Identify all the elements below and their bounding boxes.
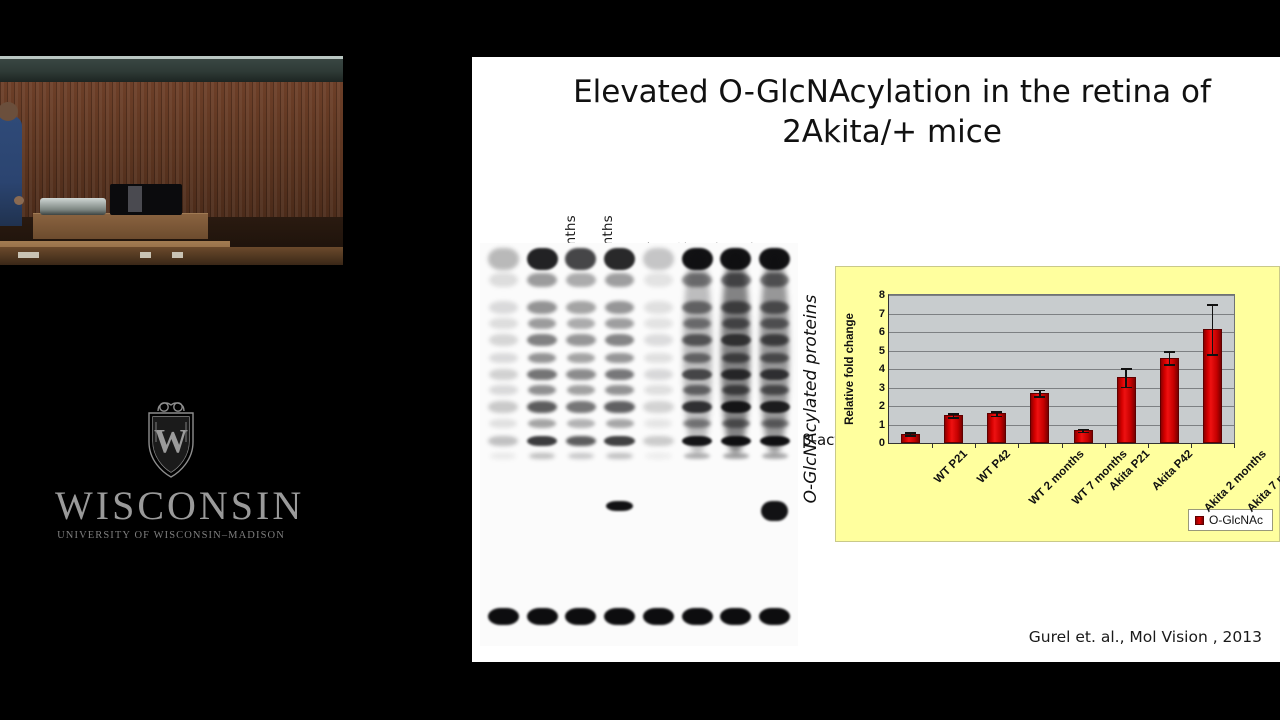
speaker-hand bbox=[14, 196, 24, 205]
blot-y-caption: O-GlcNAcylated proteins bbox=[798, 269, 824, 529]
chart-gridline bbox=[889, 314, 1234, 315]
chart-y-tick-label: 4 bbox=[879, 363, 885, 375]
speaker-person bbox=[0, 116, 22, 226]
chart-error-cap bbox=[1078, 429, 1089, 431]
chart-gridline bbox=[889, 351, 1234, 352]
blot-band bbox=[605, 334, 634, 346]
blot-band bbox=[605, 318, 634, 329]
chart-y-tick-label: 2 bbox=[879, 400, 885, 412]
chart-error-cap bbox=[1034, 390, 1045, 392]
blot-smear bbox=[760, 251, 789, 453]
blot-band bbox=[606, 501, 633, 511]
chart-gridline bbox=[889, 406, 1234, 407]
blot-band bbox=[489, 273, 518, 287]
chart-y-tick-label: 1 bbox=[879, 419, 885, 431]
blot-band bbox=[644, 273, 673, 287]
blot-band bbox=[566, 436, 596, 446]
chart-y-axis-title-text: Relative fold change bbox=[844, 313, 856, 425]
chart-y-tick-label: 5 bbox=[879, 345, 885, 357]
blot-smear bbox=[683, 251, 712, 453]
chart-error-cap bbox=[1121, 387, 1132, 389]
blot-band bbox=[489, 353, 518, 363]
blot-band bbox=[644, 301, 673, 313]
blot-lane bbox=[527, 243, 558, 646]
chart-bar[interactable] bbox=[987, 413, 1006, 443]
blot-band bbox=[567, 419, 595, 428]
blot-lane bbox=[643, 243, 674, 646]
beta-actin-band bbox=[759, 608, 790, 625]
chart-x-tick bbox=[1191, 443, 1192, 448]
chart-gridline bbox=[889, 425, 1234, 426]
blot-lane bbox=[682, 243, 713, 646]
blot-band bbox=[723, 453, 749, 459]
chart-bar[interactable] bbox=[944, 415, 963, 443]
chart-error-cap bbox=[905, 435, 916, 437]
blot-band bbox=[605, 301, 634, 313]
blot-band bbox=[568, 453, 594, 459]
chart-bar[interactable] bbox=[1030, 393, 1049, 443]
blot-band bbox=[606, 419, 634, 428]
blot-band bbox=[490, 453, 516, 459]
blot-band bbox=[643, 248, 674, 270]
blot-band bbox=[762, 453, 788, 459]
beta-actin-band bbox=[488, 608, 519, 625]
blot-band bbox=[567, 353, 596, 363]
blot-band bbox=[489, 419, 517, 428]
western-blot-image bbox=[480, 243, 798, 646]
blot-band bbox=[684, 453, 710, 459]
chart-error-cap bbox=[1078, 432, 1089, 434]
blot-band bbox=[605, 369, 634, 380]
chart-y-tick-label: 8 bbox=[879, 289, 885, 301]
chart-bar[interactable] bbox=[1160, 358, 1179, 443]
blot-band bbox=[528, 318, 557, 329]
blot-band bbox=[488, 248, 519, 270]
blot-band bbox=[528, 419, 556, 428]
chart-error-cap bbox=[1164, 364, 1175, 366]
projector-device bbox=[40, 198, 106, 215]
podium-desk bbox=[33, 213, 208, 239]
blot-band bbox=[644, 353, 673, 363]
blot-band bbox=[644, 318, 673, 329]
blot-band bbox=[528, 385, 557, 395]
blot-band bbox=[489, 301, 518, 313]
relative-fold-change-chart: Relative fold change 012345678 O-GlcNAc … bbox=[835, 266, 1280, 542]
blot-band bbox=[567, 318, 596, 329]
blot-lane bbox=[604, 243, 635, 646]
chart-legend[interactable]: O-GlcNAc bbox=[1188, 509, 1273, 531]
slide-title-line1: Elevated O-GlcNAcylation in the retina o… bbox=[573, 74, 1211, 110]
beta-actin-band bbox=[643, 608, 674, 625]
blot-band bbox=[527, 273, 556, 287]
blot-band bbox=[528, 353, 557, 363]
blot-band bbox=[566, 273, 595, 287]
chart-error-cap bbox=[991, 411, 1002, 413]
beta-actin-band bbox=[604, 608, 635, 625]
blot-band bbox=[488, 436, 518, 446]
blot-band bbox=[527, 401, 557, 413]
blot-band bbox=[566, 401, 596, 413]
chart-error-bar bbox=[1212, 304, 1214, 354]
blot-band bbox=[604, 401, 634, 413]
blot-band bbox=[527, 369, 556, 380]
blot-lane bbox=[488, 243, 519, 646]
chart-x-tick bbox=[1234, 443, 1235, 448]
chart-error-cap bbox=[1207, 354, 1218, 356]
legend-swatch-icon bbox=[1195, 516, 1204, 525]
audience-bench-row bbox=[0, 247, 343, 265]
bench-fitting bbox=[172, 252, 183, 258]
chart-error-cap bbox=[1207, 304, 1218, 306]
blot-band bbox=[644, 419, 672, 428]
chart-gridline bbox=[889, 388, 1234, 389]
chart-error-cap bbox=[1121, 368, 1132, 370]
monitor-stand bbox=[128, 186, 142, 212]
blot-band bbox=[644, 334, 673, 346]
beta-actin-band bbox=[527, 608, 558, 625]
beta-actin-band bbox=[682, 608, 713, 625]
blot-band bbox=[604, 436, 634, 446]
chart-x-tick-label: Akita P42 bbox=[1150, 448, 1195, 493]
chart-x-tick bbox=[1105, 443, 1106, 448]
chart-x-tick bbox=[1062, 443, 1063, 448]
uw-subtitle: UNIVERSITY OF WISCONSIN–MADISON bbox=[55, 530, 287, 541]
chart-error-cap bbox=[948, 417, 959, 419]
blot-y-caption-text: O-GlcNAcylated proteins bbox=[801, 295, 821, 504]
blot-band bbox=[566, 334, 595, 346]
blot-band bbox=[644, 369, 673, 380]
monitor-device bbox=[110, 184, 182, 215]
blot-lane bbox=[759, 243, 790, 646]
blot-band bbox=[761, 501, 788, 521]
chart-error-cap bbox=[1034, 396, 1045, 398]
blot-band bbox=[489, 334, 518, 346]
speaker-video-feed[interactable] bbox=[0, 56, 343, 265]
chart-x-tick bbox=[975, 443, 976, 448]
blot-band bbox=[645, 453, 671, 459]
blot-band bbox=[605, 353, 634, 363]
chart-gridline bbox=[889, 295, 1234, 296]
blot-band bbox=[604, 248, 635, 270]
slide-citation: Gurel et. al., Mol Vision , 2013 bbox=[1029, 628, 1262, 646]
chart-error-cap bbox=[1164, 351, 1175, 353]
blot-band bbox=[489, 369, 518, 380]
blot-band bbox=[489, 385, 518, 395]
chart-gridline bbox=[889, 332, 1234, 333]
chart-y-tick-label: 6 bbox=[879, 326, 885, 338]
beta-actin-band bbox=[565, 608, 596, 625]
bench-fitting bbox=[140, 252, 151, 258]
chart-gridline bbox=[889, 369, 1234, 370]
chart-x-tick bbox=[932, 443, 933, 448]
chart-y-tick-label: 0 bbox=[879, 437, 885, 449]
chart-y-tick-label: 3 bbox=[879, 382, 885, 394]
blot-band bbox=[529, 453, 555, 459]
chart-error-cap bbox=[905, 432, 916, 434]
blot-band bbox=[605, 273, 634, 287]
blot-band bbox=[527, 248, 558, 270]
chart-plot-area: 012345678 bbox=[888, 294, 1235, 444]
blot-band bbox=[565, 248, 596, 270]
chart-x-tick-label: WT P42 bbox=[975, 448, 1013, 486]
blot-band bbox=[566, 369, 595, 380]
bench-fitting bbox=[28, 252, 39, 258]
chart-x-tick bbox=[1148, 443, 1149, 448]
chart-x-tick bbox=[1018, 443, 1019, 448]
screen-root: W WISCONSIN UNIVERSITY OF WISCONSIN–MADI… bbox=[0, 0, 1280, 720]
blot-band bbox=[606, 453, 632, 459]
blot-band bbox=[566, 301, 595, 313]
blot-band bbox=[488, 401, 518, 413]
chart-error-cap bbox=[948, 413, 959, 415]
blot-lane bbox=[720, 243, 751, 646]
ceiling-light-strip bbox=[0, 56, 343, 59]
blot-smear bbox=[721, 251, 750, 453]
chart-error-cap bbox=[991, 416, 1002, 418]
svg-text:W: W bbox=[154, 423, 188, 460]
chart-error-bar bbox=[1169, 351, 1171, 364]
blot-lane bbox=[565, 243, 596, 646]
ceiling bbox=[0, 56, 343, 82]
chart-y-axis-title: Relative fold change bbox=[842, 294, 858, 444]
uw-wordmark: WISCONSIN bbox=[55, 486, 287, 526]
blot-band bbox=[643, 436, 673, 446]
blot-band bbox=[527, 301, 556, 313]
blot-band bbox=[643, 401, 673, 413]
beta-actin-band bbox=[720, 608, 751, 625]
blot-band bbox=[527, 436, 557, 446]
uw-crest-icon: W bbox=[132, 398, 210, 484]
chart-x-tick-label: WT P21 bbox=[932, 448, 970, 486]
chart-error-bar bbox=[1125, 368, 1127, 387]
blot-band bbox=[527, 334, 556, 346]
blot-band bbox=[605, 385, 634, 395]
blot-band bbox=[489, 318, 518, 329]
blot-band bbox=[567, 385, 596, 395]
presentation-slide: Elevated O-GlcNAcylation in the retina o… bbox=[472, 57, 1280, 662]
legend-label: O-GlcNAc bbox=[1209, 513, 1263, 527]
blot-band bbox=[644, 385, 673, 395]
chart-y-tick-label: 7 bbox=[879, 308, 885, 320]
uw-madison-logo: W WISCONSIN UNIVERSITY OF WISCONSIN–MADI… bbox=[55, 398, 287, 540]
